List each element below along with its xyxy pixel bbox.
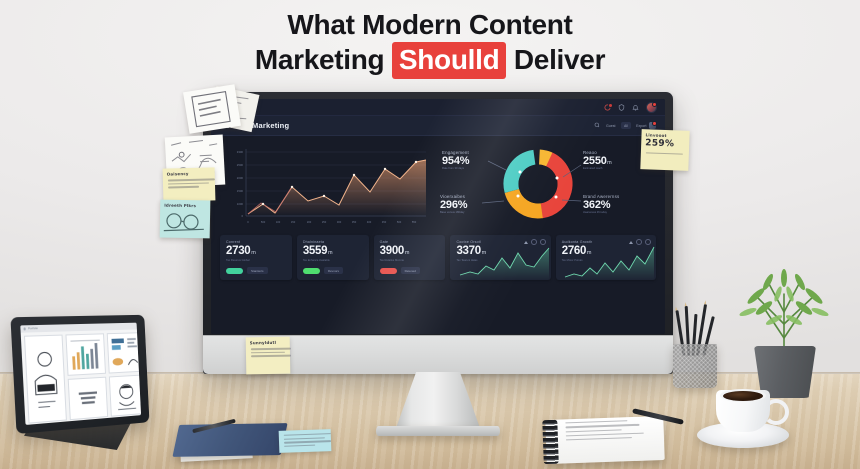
card-value: 2730m bbox=[226, 245, 286, 258]
pencil-holder bbox=[665, 300, 731, 390]
status-badge[interactable] bbox=[226, 268, 243, 274]
tile-pie-charts[interactable] bbox=[70, 420, 110, 425]
note-value: 259% bbox=[641, 138, 689, 150]
card-label: Gate bbox=[380, 240, 440, 244]
headline-text-after: Deliver bbox=[506, 44, 605, 75]
tablet-grid bbox=[21, 329, 141, 425]
potted-plant bbox=[728, 268, 840, 398]
svg-text:0: 0 bbox=[241, 214, 243, 218]
card-sub: Tax Reserve Global bbox=[226, 259, 286, 262]
headline-line-1: What Modern Content bbox=[0, 8, 860, 42]
svg-text:300: 300 bbox=[337, 220, 342, 224]
mesh-texture bbox=[673, 344, 717, 388]
blue-notebook bbox=[172, 423, 287, 457]
card-number: 3900 bbox=[380, 245, 404, 257]
avatar[interactable] bbox=[646, 102, 657, 113]
sparkline-chart bbox=[563, 244, 656, 280]
tile-mini-charts[interactable] bbox=[107, 332, 141, 373]
sticky-note-right: Linvooot 259% bbox=[640, 129, 689, 171]
tile-column-chart[interactable] bbox=[29, 423, 69, 425]
card-actions: Stantieris bbox=[226, 267, 286, 274]
sticky-note-desk-teal bbox=[279, 429, 332, 453]
filter-button[interactable]: All bbox=[621, 122, 632, 129]
search-label[interactable]: Guest bbox=[606, 124, 616, 128]
svg-text:0: 0 bbox=[247, 220, 249, 224]
head-sketch-icon bbox=[110, 376, 141, 416]
card-label: Conrent bbox=[226, 240, 286, 244]
dashboard-app: Dashboard bbox=[211, 99, 665, 334]
tablet-screen: Portfolio bbox=[20, 323, 141, 425]
svg-text:150: 150 bbox=[291, 220, 296, 224]
svg-text:1500: 1500 bbox=[237, 189, 244, 193]
card-label: Dhalninaeta bbox=[303, 240, 363, 244]
svg-text:350: 350 bbox=[352, 220, 357, 224]
monitor-foot bbox=[376, 426, 500, 436]
tile-text[interactable] bbox=[68, 377, 108, 421]
stat-card[interactable]: Dhalninaeta 3559m Tax Enhance Available … bbox=[297, 235, 369, 280]
person-sketch-icon bbox=[25, 336, 66, 423]
search-icon[interactable] bbox=[594, 122, 601, 129]
sticky-note-bezel: Sunnyldutl bbox=[246, 337, 291, 375]
tablet-title: Portfolio bbox=[28, 327, 38, 330]
card-unit: m bbox=[328, 250, 332, 256]
donut-chart-block: Engagement 954% Rate from 30 days Vioerx… bbox=[442, 144, 656, 228]
avatar bbox=[649, 122, 656, 129]
tablet-body: Portfolio bbox=[10, 315, 149, 434]
pencil-tip bbox=[704, 300, 707, 304]
sticky-note-left-teal: Idreeth Plkrs bbox=[160, 200, 211, 239]
stat-card[interactable]: Conrent 2730m Tax Reserve Global Stantie… bbox=[220, 235, 292, 280]
svg-text:500: 500 bbox=[261, 220, 266, 224]
charts-row: 0 1000 1500 2000 2500 3300 0500100 bbox=[220, 144, 656, 228]
sketch-paper-front bbox=[183, 84, 241, 134]
headline-line-2: Marketing Shoulld Deliver bbox=[0, 42, 860, 79]
sticky-note-left-yellow: Oaisency bbox=[163, 167, 216, 201]
avatar-badge bbox=[652, 102, 657, 107]
sketch-box bbox=[183, 84, 241, 134]
text-block-icon bbox=[69, 378, 107, 419]
svg-text:2500: 2500 bbox=[237, 163, 244, 167]
bell-icon[interactable] bbox=[632, 104, 639, 111]
note-title: Oaisency bbox=[163, 167, 215, 177]
wide-stat-card[interactable]: Cootxe Orsotl 3370m Tax Tearuni datas bbox=[450, 235, 550, 280]
tile-illustration[interactable] bbox=[109, 375, 141, 417]
pie-chart-icon bbox=[71, 421, 109, 425]
sparkline-chart bbox=[458, 244, 551, 280]
dashboard-body: 0 1000 1500 2000 2500 3300 0500100 bbox=[211, 136, 665, 280]
svg-text:200: 200 bbox=[307, 220, 312, 224]
headline-highlight: Shoulld bbox=[392, 42, 507, 79]
card-number: 3559 bbox=[303, 245, 327, 257]
note-title: Sunnyldutl bbox=[246, 337, 290, 347]
status-badge[interactable] bbox=[303, 268, 320, 274]
card-value: 3900m bbox=[380, 245, 440, 258]
note-diagram bbox=[160, 209, 210, 236]
tile-bar-chart[interactable] bbox=[65, 333, 106, 376]
headline-text-before: Marketing bbox=[255, 44, 392, 75]
card-button[interactable]: Revnors bbox=[324, 267, 343, 274]
chip-badge bbox=[652, 121, 657, 126]
svg-text:1000: 1000 bbox=[237, 202, 244, 206]
menu-icon[interactable] bbox=[24, 328, 27, 331]
coffee-cup bbox=[697, 384, 789, 450]
refresh-badge bbox=[608, 103, 613, 108]
stat-card[interactable]: Gate 3900m Tax Relative Monnte Retened bbox=[374, 235, 446, 280]
chevron-up-icon[interactable] bbox=[629, 241, 633, 244]
pencil-tip bbox=[675, 306, 678, 310]
wide-stat-card[interactable]: Audkonta Growth 2760m Tax Motor Potrais bbox=[556, 235, 656, 280]
tablet: Portfolio bbox=[6, 316, 158, 446]
card-unit: m bbox=[405, 250, 409, 256]
card-sub: Tax Enhance Available bbox=[303, 259, 363, 262]
svg-text:500: 500 bbox=[397, 220, 402, 224]
desk-scene: What Modern Content Marketing Shoulld De… bbox=[0, 0, 860, 469]
export-label: Export bbox=[636, 124, 646, 128]
card-button[interactable]: Stantieris bbox=[247, 267, 268, 274]
status-badge[interactable] bbox=[380, 268, 397, 274]
bar-chart-icon bbox=[66, 334, 104, 374]
mesh-cup bbox=[673, 344, 717, 388]
svg-text:100: 100 bbox=[276, 220, 281, 224]
card-sub: Tax Relative Monnte bbox=[380, 259, 440, 262]
card-number: 2730 bbox=[226, 245, 250, 257]
shield-icon[interactable] bbox=[618, 104, 625, 111]
card-value: 3559m bbox=[303, 245, 363, 258]
mini-chart-icon bbox=[108, 333, 141, 372]
tile-portrait[interactable] bbox=[24, 335, 67, 424]
card-actions: Revnors bbox=[303, 267, 363, 274]
svg-text:2000: 2000 bbox=[237, 176, 244, 180]
dashboard-subbar: Content Marketing Guest All Export bbox=[211, 116, 665, 136]
svg-text:3300: 3300 bbox=[237, 150, 244, 154]
refresh-icon[interactable] bbox=[604, 104, 611, 111]
card-unit: m bbox=[251, 250, 255, 256]
headline: What Modern Content Marketing Shoulld De… bbox=[0, 8, 860, 79]
svg-text:550: 550 bbox=[412, 220, 417, 224]
card-button[interactable]: Retened bbox=[401, 267, 420, 274]
topbar-actions bbox=[604, 102, 657, 113]
monitor: Dashboard bbox=[203, 92, 673, 374]
dashboard-topbar: Dashboard bbox=[211, 99, 665, 116]
plant-foliage bbox=[728, 268, 840, 354]
notebook-coil bbox=[542, 420, 559, 464]
monitor-screen: Dashboard bbox=[211, 99, 665, 334]
line-chart-svg: 0 1000 1500 2000 2500 3300 0500100 bbox=[220, 144, 432, 228]
coffee-liquid bbox=[723, 391, 763, 401]
svg-text:250: 250 bbox=[322, 220, 327, 224]
monitor-body: Dashboard bbox=[203, 92, 673, 374]
card-actions: Retened bbox=[380, 267, 440, 274]
pencil-tip bbox=[684, 302, 686, 306]
svg-text:450: 450 bbox=[382, 220, 387, 224]
svg-text:400: 400 bbox=[367, 220, 372, 224]
subbar-actions: Guest All Export bbox=[594, 122, 656, 129]
chevron-up-icon[interactable] bbox=[524, 241, 528, 244]
metric-leader-lines bbox=[442, 144, 665, 228]
spiral-notebook bbox=[545, 416, 664, 464]
line-chart: 0 1000 1500 2000 2500 3300 0500100 bbox=[220, 144, 432, 228]
stat-cards-row: Conrent 2730m Tax Reserve Global Stantie… bbox=[220, 235, 656, 280]
export-chip[interactable]: Export bbox=[636, 122, 656, 129]
